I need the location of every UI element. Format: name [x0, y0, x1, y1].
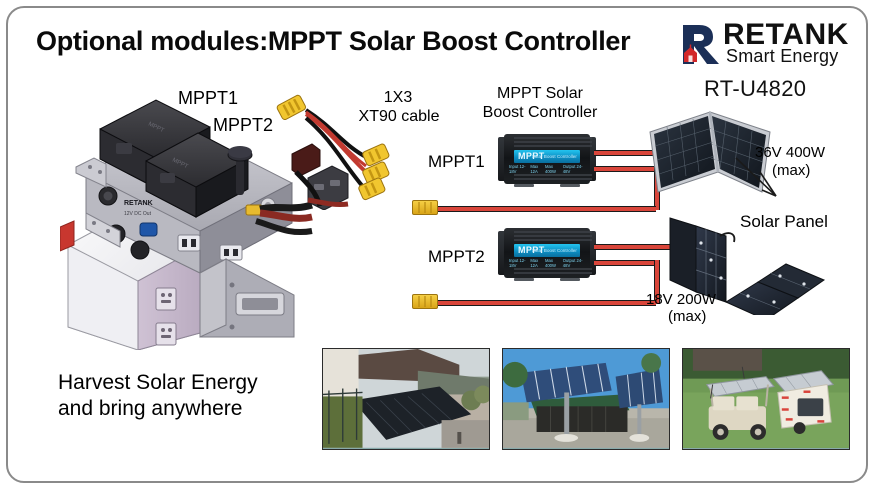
cable-label-line2: XT90 cable: [352, 108, 446, 127]
svg-text:RETANK: RETANK: [124, 200, 153, 207]
application-photo-strip: Balcony: [322, 348, 850, 480]
wire-c2-out-mid: [594, 260, 656, 266]
mounting-slot-right: [560, 278, 580, 281]
spec-power: Max 400W: [545, 164, 563, 174]
mppt-controller-unit-2: MPPT Solar Boost Controller Input 12-18V…: [498, 222, 596, 284]
tagline-line2: and bring anywhere: [58, 396, 242, 423]
tagline-line1: Harvest Solar Energy: [58, 370, 258, 397]
controller-heading-line1: MPPT Solar: [472, 85, 608, 104]
controller-1-label: MPPT1: [428, 152, 485, 172]
mounting-slot-right: [560, 184, 580, 187]
spec-current: Max 12A: [530, 164, 545, 174]
spec-power: Max 400W: [545, 258, 563, 268]
retank-r-house-logo-icon: [679, 22, 725, 66]
wire-c1-in: [438, 206, 656, 212]
mppt-controller-unit-1: MPPT Solar Boost Controller Input 12-18V…: [498, 128, 596, 190]
station-mppt2-label: MPPT2: [213, 115, 273, 136]
panel-bottom-spec-line2: (max): [668, 308, 706, 326]
wire-c2-in: [438, 300, 656, 306]
spec-output: Output 24-48V: [563, 164, 587, 174]
mounting-slot-left: [514, 278, 534, 281]
xt90-connector-c1-input: [412, 200, 438, 215]
spec-current: Max 12A: [530, 258, 545, 268]
controller-2-label: MPPT2: [428, 247, 485, 267]
infographic-page: Optional modules:MPPT Solar Boost Contro…: [0, 0, 880, 495]
spec-input: Input 12-18V: [509, 164, 530, 174]
anderson-connector-illustration: [286, 140, 366, 210]
controller-spec-row: Input 12-18V Max 12A Max 400W Output 24-…: [509, 164, 587, 174]
brand-logo: RETANK Smart Energy: [679, 22, 851, 70]
cable-label-line1: 1X3: [362, 89, 434, 108]
brand-tagline: Smart Energy: [726, 47, 838, 65]
controller-heading-line2: Boost Controller: [462, 104, 618, 123]
photo-courtyard: Courtyard: [502, 348, 670, 450]
xt90-connector-c2-input: [412, 294, 438, 309]
controller-label-plate: MPPT Solar Boost Controller: [514, 244, 580, 257]
spec-input: Input 12-18V: [509, 258, 530, 268]
photo-vehicle-roof: Vehicle roof: [682, 348, 850, 450]
spec-output: Output 24-48V: [563, 258, 587, 268]
panel-top-spec-line1: 36V 400W: [755, 144, 825, 162]
wire-c1-out-mid: [594, 166, 656, 172]
plate-subtitle: Solar Boost Controller: [532, 244, 577, 257]
panel-bottom-spec-line1: 18V 200W: [646, 291, 716, 309]
page-title: Optional modules:MPPT Solar Boost Contro…: [36, 26, 630, 57]
svg-text:12V DC Out: 12V DC Out: [124, 211, 152, 217]
panel-top-spec-line2: (max): [772, 162, 810, 180]
controller-label-plate: MPPT Solar Boost Controller: [514, 150, 580, 163]
model-number: RT-U4820: [704, 76, 806, 102]
mounting-slot-left: [514, 184, 534, 187]
controller-spec-row: Input 12-18V Max 12A Max 400W Output 24-…: [509, 258, 587, 268]
photo-balcony: Balcony: [322, 348, 490, 450]
panel-name-label: Solar Panel: [740, 212, 828, 232]
station-mppt1-label: MPPT1: [178, 88, 238, 109]
plate-subtitle: Solar Boost Controller: [532, 150, 577, 163]
